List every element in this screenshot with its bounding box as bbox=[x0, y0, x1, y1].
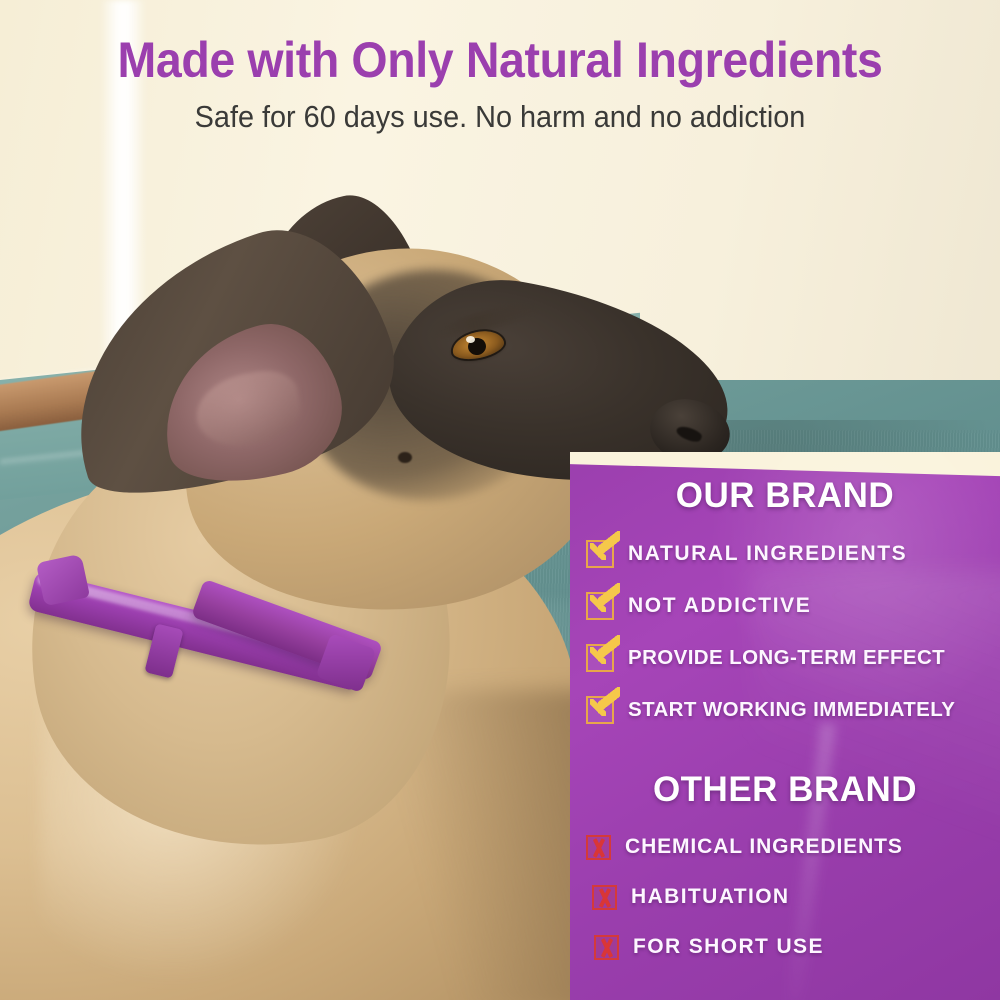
list-item-label: NOT ADDICTIVE bbox=[628, 594, 811, 618]
list-item: START WORKING IMMEDIATELY bbox=[586, 684, 984, 736]
list-item-label: START WORKING IMMEDIATELY bbox=[628, 698, 955, 722]
collar-end-tip bbox=[36, 554, 90, 607]
comparison-panel: OUR BRAND NATURAL INGREDIENTS NOT ADDICT… bbox=[570, 452, 1000, 1000]
list-item: NOT ADDICTIVE bbox=[586, 580, 984, 632]
other-brand-list: CHEMICAL INGREDIENTS HABITUATION FOR SHO… bbox=[586, 822, 984, 972]
other-brand-title: OTHER BRAND bbox=[586, 770, 984, 810]
check-icon bbox=[586, 644, 614, 672]
check-icon bbox=[586, 592, 614, 620]
check-icon bbox=[586, 696, 614, 724]
dog-whisker-mole bbox=[398, 452, 412, 463]
list-item: FOR SHORT USE bbox=[586, 922, 984, 972]
subheadline: Safe for 60 days use. No harm and no add… bbox=[35, 100, 965, 134]
dog-eye-glint bbox=[466, 336, 475, 343]
check-icon bbox=[586, 540, 614, 568]
panel-content: OUR BRAND NATURAL INGREDIENTS NOT ADDICT… bbox=[570, 476, 1000, 972]
purple-collar bbox=[22, 548, 392, 698]
list-item-label: FOR SHORT USE bbox=[633, 935, 824, 959]
list-item: PROVIDE LONG-TERM EFFECT bbox=[586, 632, 984, 684]
list-item: CHEMICAL INGREDIENTS bbox=[586, 822, 984, 872]
list-item-label: NATURAL INGREDIENTS bbox=[628, 542, 907, 566]
cross-icon bbox=[592, 885, 617, 910]
product-marketing-image: Made with Only Natural Ingredients Safe … bbox=[0, 0, 1000, 1000]
cross-icon bbox=[594, 935, 619, 960]
our-brand-list: NATURAL INGREDIENTS NOT ADDICTIVE PROVID… bbox=[586, 528, 984, 736]
cross-icon bbox=[586, 835, 611, 860]
our-brand-title: OUR BRAND bbox=[586, 476, 984, 516]
list-item-label: HABITUATION bbox=[631, 885, 790, 909]
list-item-label: PROVIDE LONG-TERM EFFECT bbox=[628, 646, 945, 670]
list-item: NATURAL INGREDIENTS bbox=[586, 528, 984, 580]
header-text-block: Made with Only Natural Ingredients Safe … bbox=[0, 0, 1000, 134]
headline: Made with Only Natural Ingredients bbox=[35, 34, 965, 87]
list-item-label: CHEMICAL INGREDIENTS bbox=[625, 835, 903, 859]
list-item: HABITUATION bbox=[586, 872, 984, 922]
